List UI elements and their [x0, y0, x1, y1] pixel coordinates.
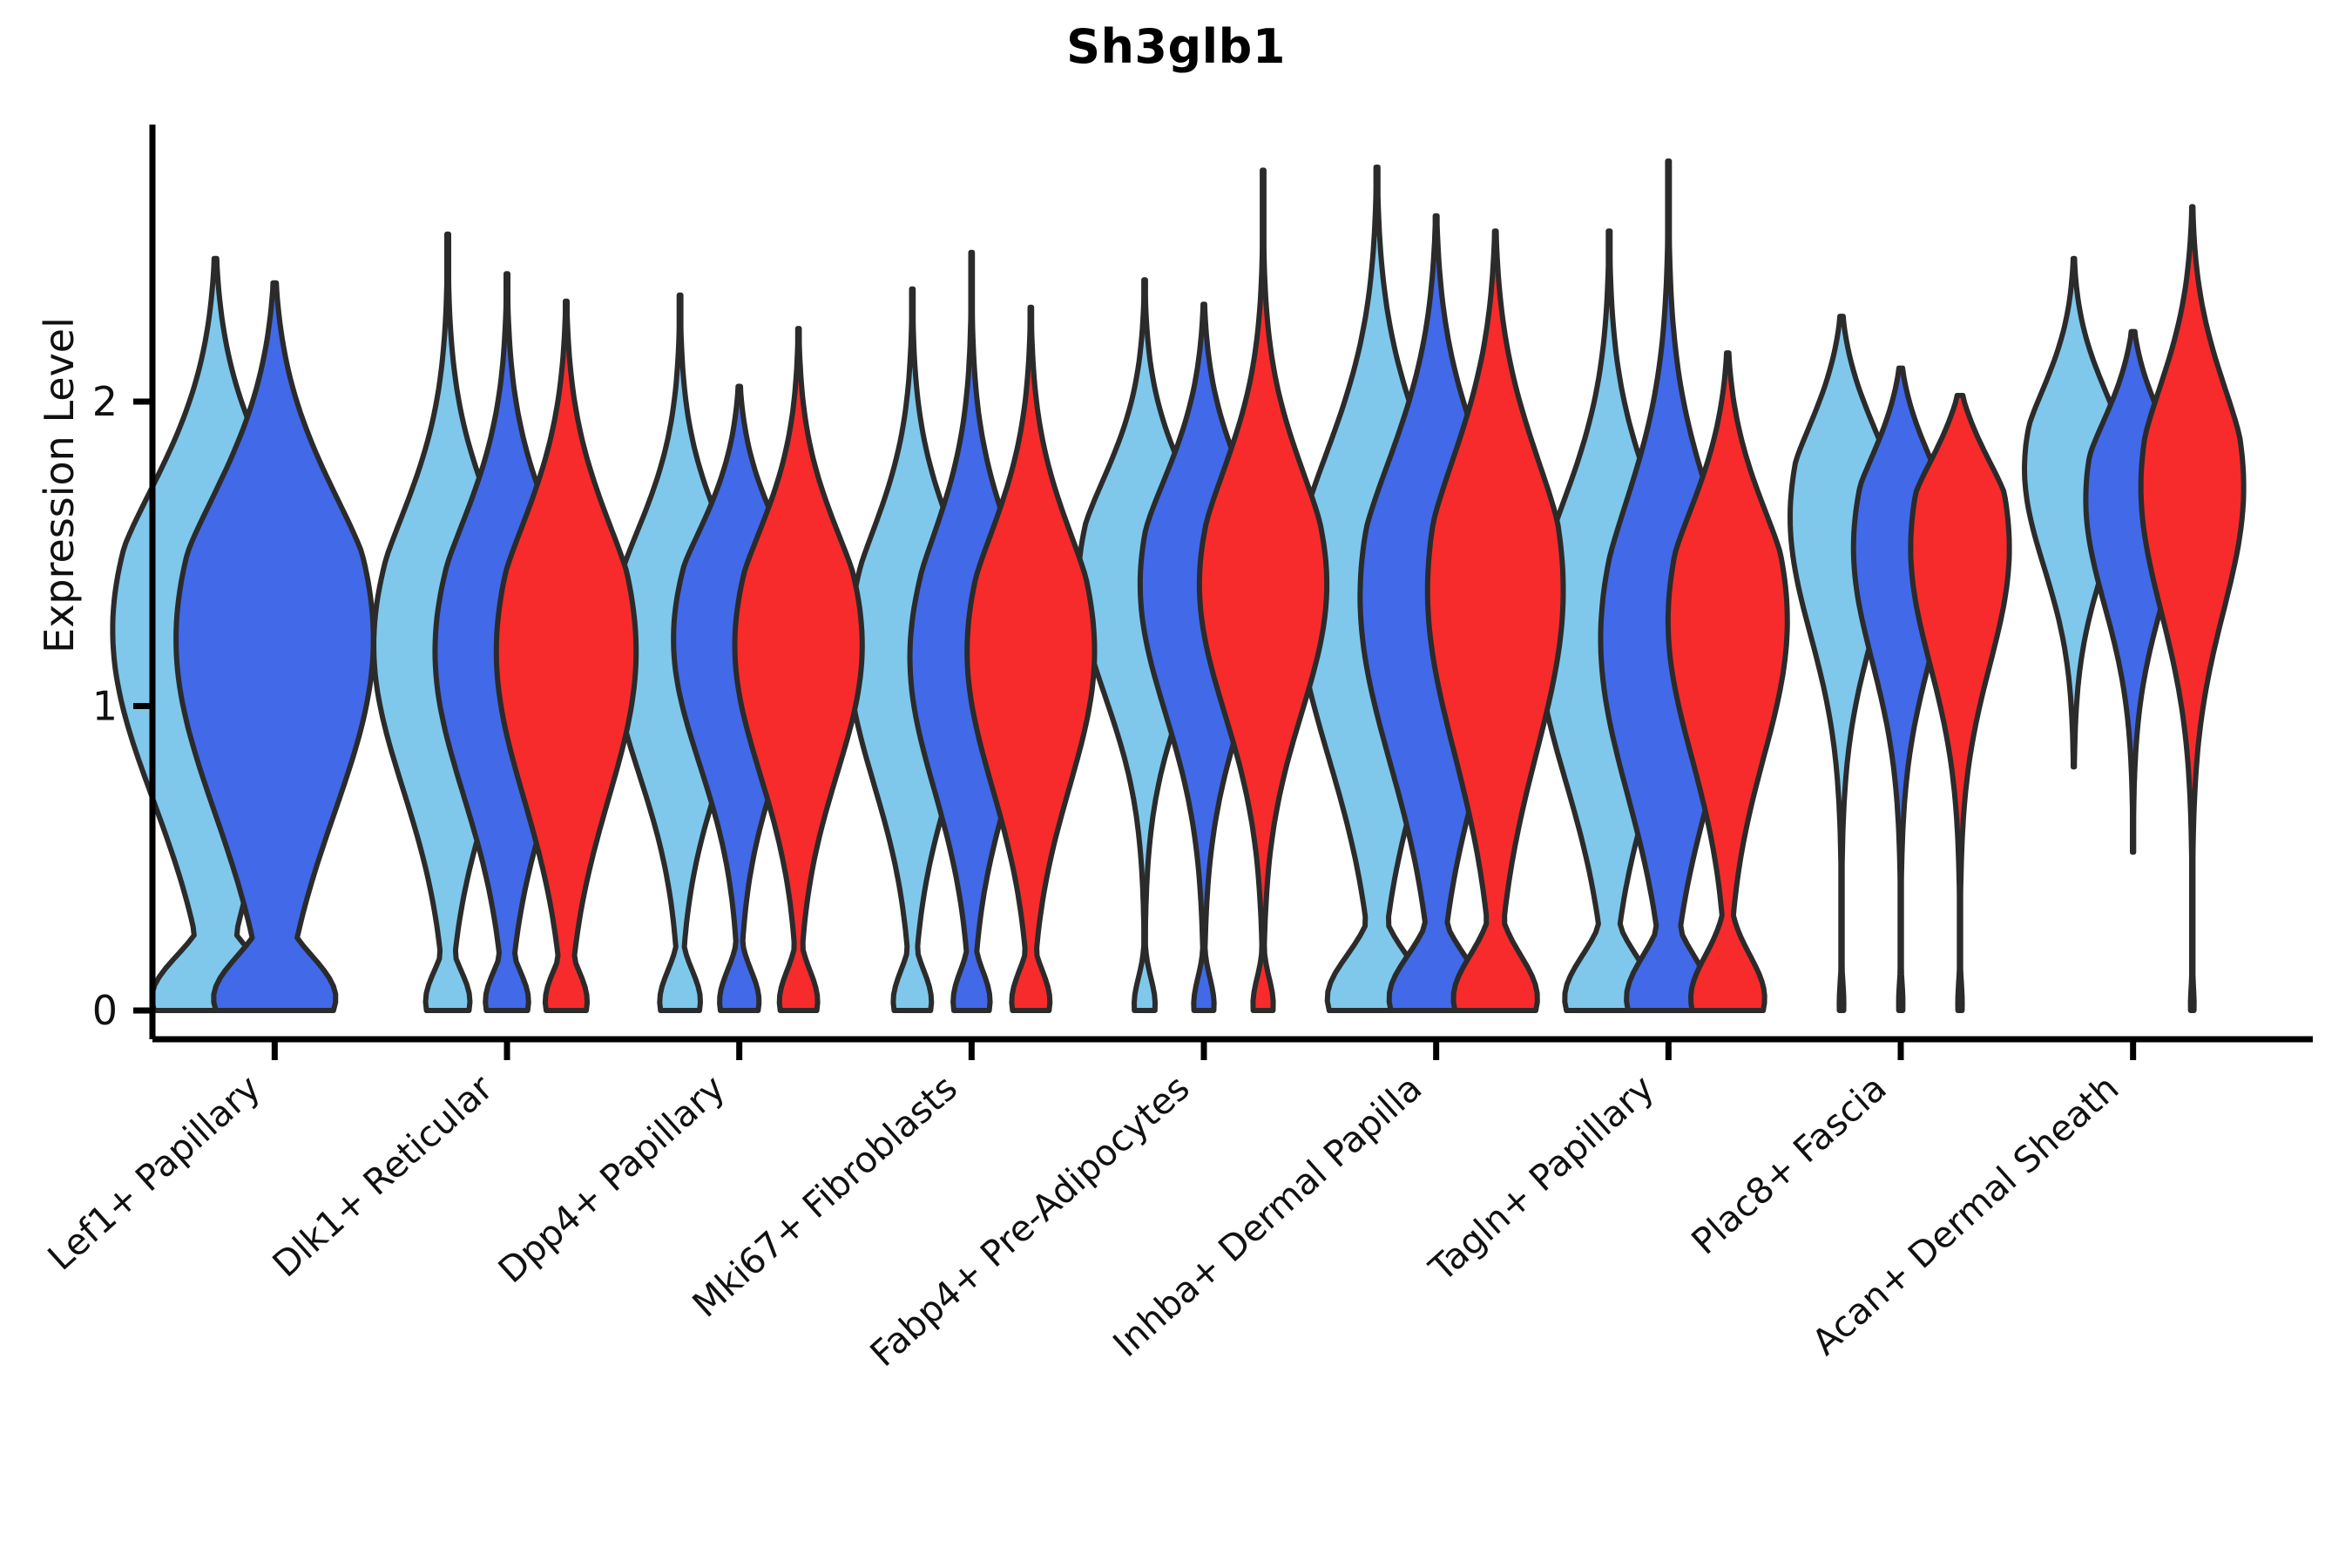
violin-group-container	[112, 161, 2243, 1010]
x-category-label-plac8-fascia: Plac8+ Fascia	[1684, 1067, 1895, 1263]
plot-area: 012 Lef1+ PapillaryDlk1+ ReticularDpp4+ …	[0, 0, 2352, 1568]
violin-plot-figure: Sh3glb1 Expression Level 012 Lef1+ Papil…	[0, 0, 2352, 1568]
x-tick-container: Lef1+ PapillaryDlk1+ ReticularDpp4+ Papi…	[40, 1039, 2133, 1375]
x-category-label-lef1-papillary: Lef1+ Papillary	[40, 1067, 268, 1279]
y-tick-label: 1	[92, 683, 118, 730]
x-category-label-tagln-papillary: Tagln+ Papillary	[1421, 1067, 1662, 1290]
violin-group-3-red-mki67-fibroblasts	[967, 308, 1094, 1010]
violin-group-3-red-plac8-fascia	[1910, 395, 2009, 1010]
y-tick-label: 2	[92, 378, 118, 425]
x-category-label-dpp4-papillary: Dpp4+ Papillary	[490, 1067, 733, 1292]
y-tick-label: 0	[92, 987, 118, 1034]
violin-group-3-red-fabp4-pre-adipocytes	[1200, 170, 1327, 1010]
x-category-label-dlk1-reticular: Dlk1+ Reticular	[265, 1067, 501, 1286]
violin-group-3-red-dpp4-papillary	[735, 328, 862, 1010]
x-category-label-mki67-fibroblasts: Mki67+ Fibroblasts	[685, 1067, 965, 1326]
